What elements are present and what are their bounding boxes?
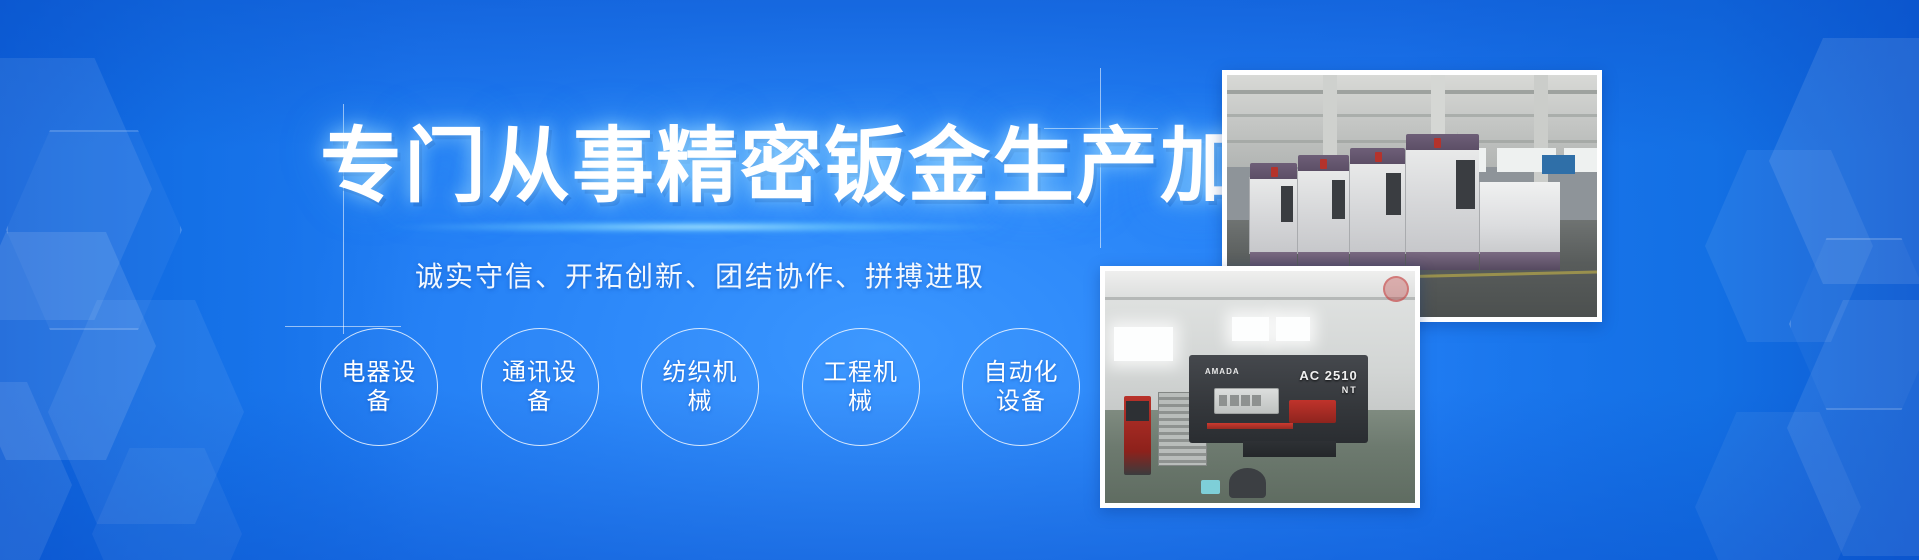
category-badge-engineering[interactable]: 工程机械	[802, 328, 920, 446]
monitor-screen	[1542, 155, 1575, 174]
category-badge-automation[interactable]: 自动化设备	[962, 328, 1080, 446]
machine-indicator	[1434, 138, 1441, 148]
amada-logo: AMADA	[1205, 367, 1240, 376]
banner-title: 专门从事精密钣金生产加工	[320, 125, 1080, 209]
category-badge-electrical[interactable]: 电器设备	[320, 328, 438, 446]
photo-amada-punch-press-workshop: AMADA AC 2510 NT	[1100, 266, 1420, 508]
control-console	[1124, 396, 1152, 475]
window	[1114, 327, 1173, 362]
headline-block: 专门从事精密钣金生产加工	[320, 125, 1080, 209]
banner-content: 专门从事精密钣金生产加工 诚实守信、开拓创新、团结协作、拼搏进取 电器设备 通讯…	[0, 0, 1919, 560]
machine-base	[1243, 441, 1336, 457]
operator-panel	[1214, 388, 1279, 414]
cnc-machine	[1249, 177, 1297, 254]
red-machine-module	[1289, 400, 1336, 423]
window	[1232, 317, 1269, 340]
cnc-machine	[1349, 162, 1405, 254]
ceiling	[1105, 271, 1415, 299]
machine-indicator	[1271, 167, 1278, 177]
photo-content: AMADA AC 2510 NT	[1105, 271, 1415, 503]
title-glow-underline	[390, 221, 1010, 233]
promo-banner: 专门从事精密钣金生产加工 诚实守信、开拓创新、团结协作、拼搏进取 电器设备 通讯…	[0, 0, 1919, 560]
machine-model-label: AC 2510 NT	[1299, 369, 1357, 396]
machine-model-suffix: NT	[1342, 385, 1358, 395]
floor-container	[1201, 480, 1220, 494]
category-badge-list: 电器设备 通讯设备 纺织机械 工程机械 自动化设备	[320, 328, 1080, 446]
window	[1276, 317, 1310, 340]
category-badge-textile[interactable]: 纺织机械	[641, 328, 759, 446]
ceiling-beam	[1105, 297, 1415, 300]
machine-indicator	[1320, 159, 1327, 169]
banner-subtitle: 诚实守信、开拓创新、团结协作、拼搏进取	[320, 255, 1080, 295]
watermark-seal-icon	[1383, 276, 1409, 302]
machine-model-number: AC 2510	[1299, 368, 1357, 383]
category-badge-communication[interactable]: 通讯设备	[481, 328, 599, 446]
red-machine-rail	[1207, 423, 1293, 429]
cnc-machine	[1405, 148, 1479, 254]
cnc-machine	[1479, 182, 1560, 255]
punch-press-body: AMADA AC 2510 NT	[1189, 355, 1369, 443]
machine-indicator	[1375, 152, 1382, 162]
dust-extractor	[1229, 468, 1266, 498]
cnc-machine	[1297, 169, 1349, 254]
